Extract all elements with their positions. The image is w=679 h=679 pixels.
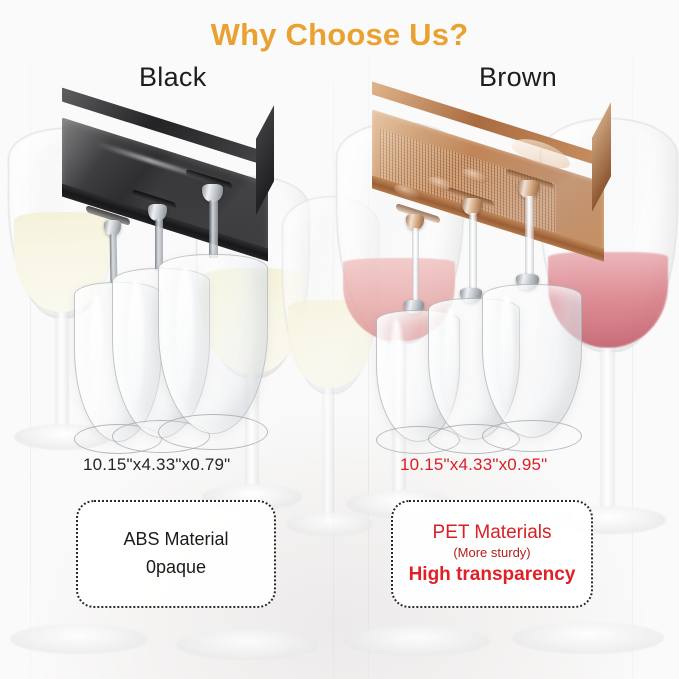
background-seam: [30, 0, 31, 679]
dimensions-black: 10.15"x4.33"x0.79": [83, 455, 230, 475]
column-heading-brown: Brown: [479, 62, 557, 93]
dimensions-brown: 10.15"x4.33"x0.95": [400, 455, 547, 475]
info-box-black-opacity: 0paque: [146, 554, 206, 582]
info-box-brown-material: PET Materials: [433, 521, 552, 545]
info-box-brown-sturdy-note: (More sturdy): [453, 545, 530, 562]
info-box-brown-transparency: High transparency: [409, 562, 576, 588]
column-heading-black: Black: [139, 62, 207, 93]
glass-foot-bottom: [512, 622, 664, 654]
page-title: Why Choose Us?: [0, 17, 679, 53]
glass-foot-bottom: [10, 624, 148, 654]
glass-foot-bottom: [176, 630, 318, 660]
info-box-black-material: ABS Material: [123, 526, 228, 554]
product-comparison-image: Why Choose Us? Black Brown 10.15"x4.33"x…: [0, 0, 679, 679]
info-box-brown: PET Materials (More sturdy) High transpa…: [391, 500, 593, 608]
info-box-black: ABS Material 0paque: [76, 500, 276, 608]
glass-foot-bottom: [344, 626, 490, 656]
